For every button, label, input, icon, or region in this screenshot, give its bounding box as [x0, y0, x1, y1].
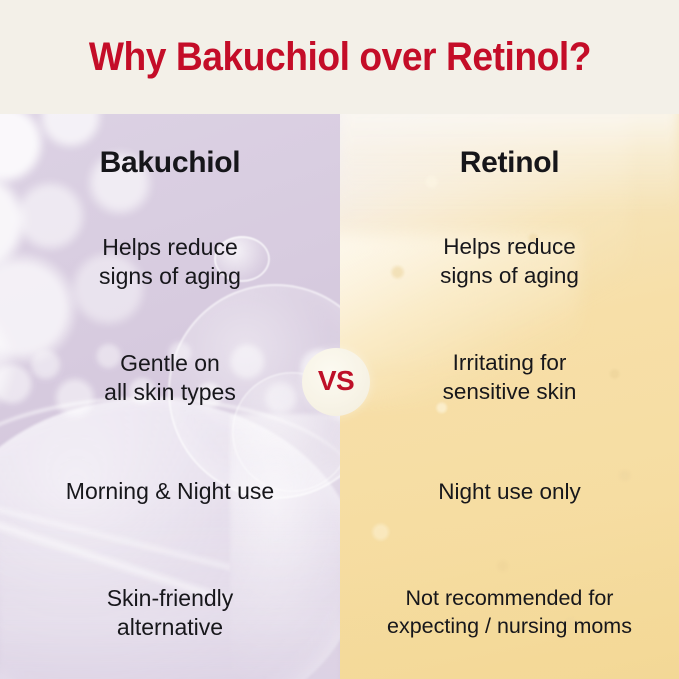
- column-retinol: Retinol Helps reduce signs of aging Irri…: [340, 114, 679, 679]
- drawback-row: Helps reduce signs of aging: [340, 204, 679, 320]
- page-title: Why Bakuchiol over Retinol?: [88, 37, 590, 77]
- bakuchiol-content: Bakuchiol Helps reduce signs of aging Ge…: [0, 114, 340, 679]
- column-bakuchiol: Bakuchiol Helps reduce signs of aging Ge…: [0, 114, 340, 679]
- drawback-row: Not recommended for expecting / nursing …: [340, 548, 679, 678]
- retinol-row-list: Helps reduce signs of aging Irritating f…: [340, 178, 679, 679]
- vs-badge: VS: [302, 348, 370, 416]
- retinol-content: Retinol Helps reduce signs of aging Irri…: [340, 114, 679, 679]
- comparison-infographic: Why Bakuchiol over Retinol? Bakuchiol He…: [0, 0, 679, 679]
- benefit-row: Helps reduce signs of aging: [0, 204, 340, 320]
- benefit-row: Gentle on all skin types: [0, 320, 340, 436]
- benefit-row: Skin-friendly alternative: [0, 548, 340, 678]
- header-bar: Why Bakuchiol over Retinol?: [0, 0, 679, 114]
- column-heading-retinol: Retinol: [460, 148, 560, 178]
- bakuchiol-row-list: Helps reduce signs of aging Gentle on al…: [0, 178, 340, 679]
- drawback-row: Night use only: [340, 436, 679, 548]
- column-heading-bakuchiol: Bakuchiol: [100, 148, 241, 178]
- vs-label: VS: [318, 367, 354, 395]
- benefit-row: Morning & Night use: [0, 436, 340, 548]
- drawback-row: Irritating for sensitive skin: [340, 320, 679, 436]
